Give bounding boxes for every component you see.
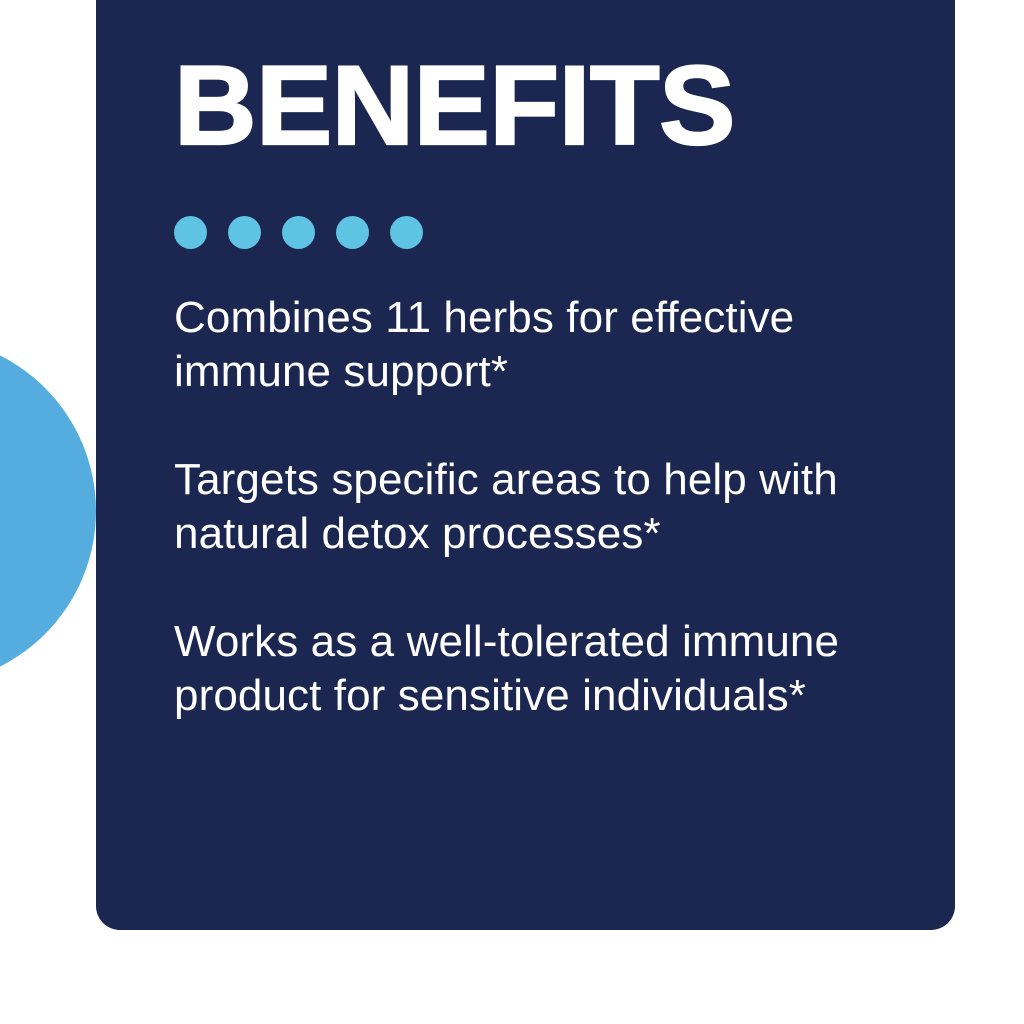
benefits-infographic: BENEFITS Combines 11 herbs for effective… [0,0,1024,1024]
list-item: Works as a well-tolerated immune product… [174,615,904,723]
decorative-blue-circle [0,337,96,685]
divider-dot-5 [390,216,423,249]
list-item: Combines 11 herbs for effective immune s… [174,291,904,399]
benefits-card-content: BENEFITS Combines 11 herbs for effective… [174,0,915,723]
list-item: Targets specific areas to help with natu… [174,453,904,561]
divider-dot-2 [228,216,261,249]
divider-dot-3 [282,216,315,249]
benefits-list: Combines 11 herbs for effective immune s… [174,291,915,723]
dot-divider [174,216,915,249]
divider-dot-4 [336,216,369,249]
page-title: BENEFITS [174,0,930,156]
benefits-card: BENEFITS Combines 11 herbs for effective… [96,0,955,930]
divider-dot-1 [174,216,207,249]
